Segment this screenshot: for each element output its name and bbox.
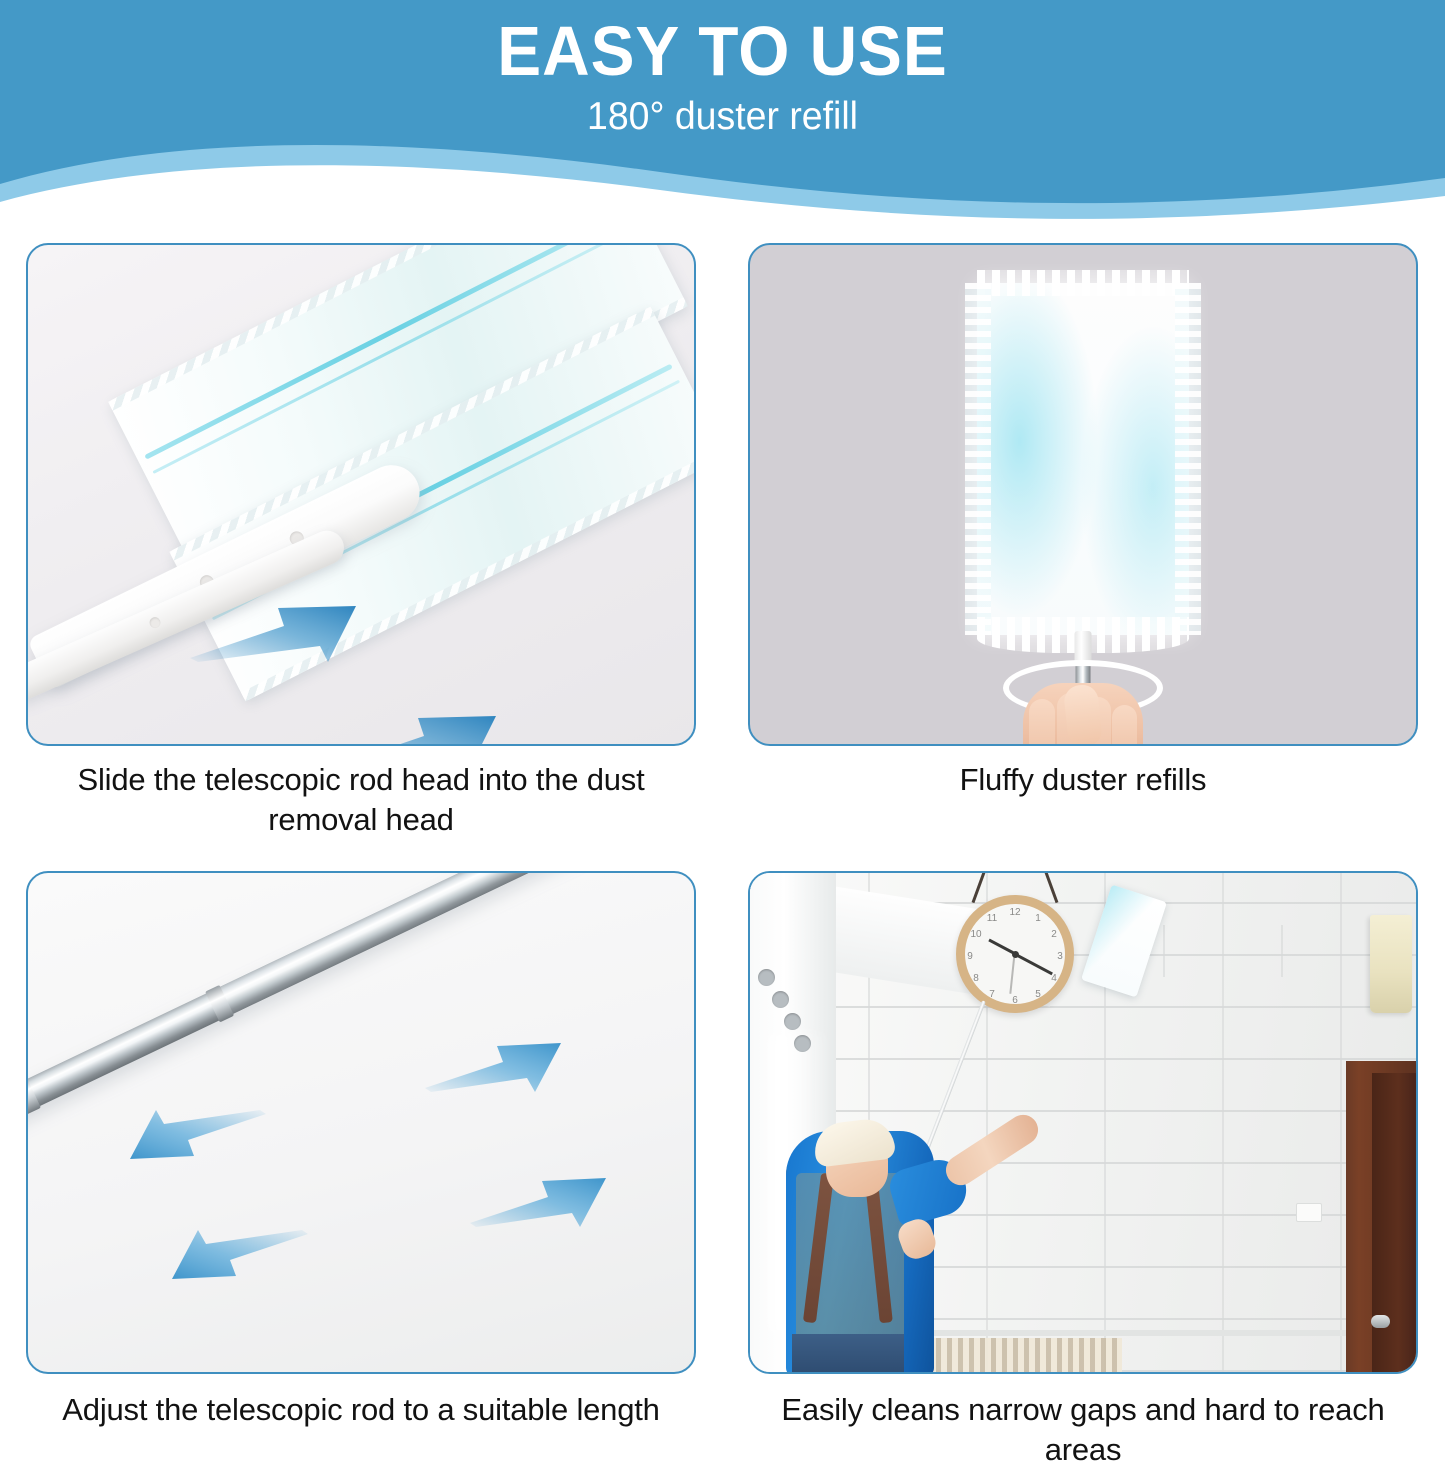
- panel-slide-rod-image: [26, 243, 696, 746]
- door-knob: [1371, 1315, 1390, 1328]
- panel-row-top: Slide the telescopic rod head into the d…: [0, 243, 1445, 839]
- panel-reach-areas-image: 12 1 2 3 4 5 6 7 8 9 10 11: [748, 871, 1418, 1374]
- direction-arrow-down-2: [170, 1228, 310, 1284]
- page-title: EASY TO USE: [43, 14, 1401, 88]
- panel-caption-slide-rod: Slide the telescopic rod head into the d…: [31, 760, 691, 839]
- clock-minute-hand: [1014, 953, 1052, 975]
- panel-cell-fluffy-refills: Fluffy duster refills: [722, 243, 1444, 839]
- panel-caption-adjust-length: Adjust the telescopic rod to a suitable …: [31, 1390, 691, 1430]
- panel-caption-reach-areas: Easily cleans narrow gaps and hard to re…: [753, 1390, 1413, 1469]
- duster-head: [977, 283, 1189, 635]
- banner-text-block: EASY TO USE 180° duster refill: [0, 0, 1445, 139]
- header-banner: EASY TO USE 180° duster refill: [0, 0, 1445, 232]
- woman-jeans: [792, 1334, 904, 1372]
- telescopic-pole: [26, 871, 696, 1152]
- wall-clock: 12 1 2 3 4 5 6 7 8 9 10 11: [956, 895, 1074, 1013]
- clock-number: 11: [985, 914, 999, 924]
- direction-arrow-up-2: [468, 1173, 608, 1229]
- clock-center-pin: [1012, 951, 1019, 958]
- clock-number: 1: [1031, 914, 1045, 924]
- clock-number: 4: [1047, 974, 1061, 984]
- clock-number: 10: [969, 930, 983, 940]
- panel-fluffy-refills-image: [748, 243, 1418, 746]
- direction-arrow-down-1: [128, 1108, 268, 1164]
- clock-number: 3: [1053, 952, 1067, 962]
- panel-caption-fluffy-refills: Fluffy duster refills: [753, 760, 1413, 800]
- panel-cell-reach-areas: 12 1 2 3 4 5 6 7 8 9 10 11: [722, 871, 1444, 1469]
- wall-dispenser: [1370, 915, 1412, 1013]
- clock-number: 12: [1008, 908, 1022, 918]
- direction-arrow-1: [188, 600, 358, 664]
- panel-adjust-length-image: [26, 871, 696, 1374]
- duster-fluff-top: [977, 270, 1189, 296]
- panel-cell-slide-rod: Slide the telescopic rod head into the d…: [0, 243, 722, 839]
- panel-grid: Slide the telescopic rod head into the d…: [0, 243, 1445, 1470]
- light-switch: [1296, 1203, 1322, 1222]
- clock-second-hand: [1010, 954, 1016, 994]
- direction-arrow-up-1: [423, 1038, 563, 1094]
- duster-fluff-right: [1175, 283, 1201, 635]
- clock-number: 8: [969, 974, 983, 984]
- clock-number: 6: [1008, 996, 1022, 1006]
- panel-row-bottom: Adjust the telescopic rod to a suitable …: [0, 871, 1445, 1469]
- direction-arrow-2: [328, 710, 498, 746]
- clock-number: 7: [985, 990, 999, 1000]
- duster-fluff-left: [965, 283, 991, 635]
- page-subtitle: 180° duster refill: [29, 96, 1416, 139]
- clock-number: 9: [963, 952, 977, 962]
- wooden-door: [1346, 1061, 1416, 1374]
- clock-number: 5: [1031, 990, 1045, 1000]
- panel-cell-adjust-length: Adjust the telescopic rod to a suitable …: [0, 871, 722, 1469]
- clock-number: 2: [1047, 930, 1061, 940]
